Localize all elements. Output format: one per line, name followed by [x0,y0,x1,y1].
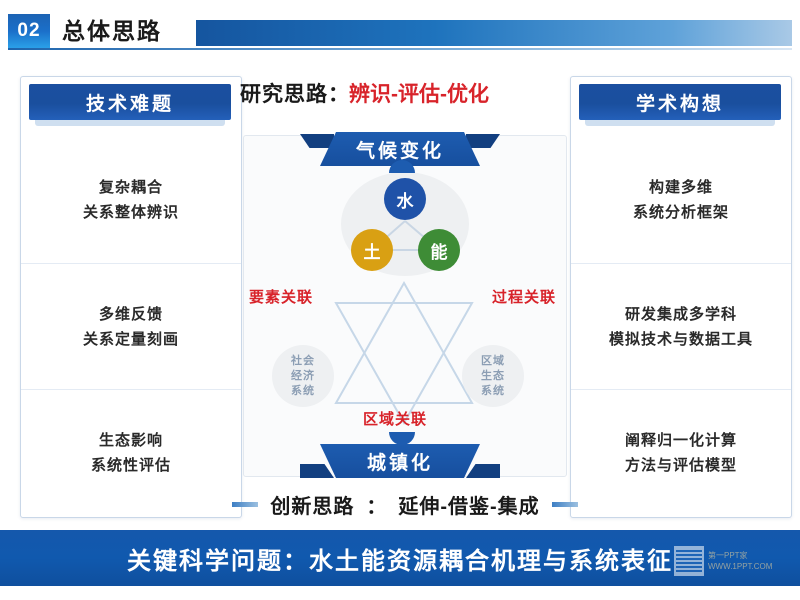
system-bubble-socioeconomic: 社会 经济 系统 [272,345,334,407]
list-item-line-1: 阐释归一化计算 [625,428,737,453]
list-item-line-1: 构建多维 [649,175,713,200]
slide-header: 02 总体思路 [0,14,800,50]
left-panel-header-shadow [35,120,225,126]
innovation-colon: ： [366,490,386,519]
innovation-steps: 延伸-借鉴-集成 [398,490,539,519]
right-panel-header: 学术构想 [579,84,781,120]
list-item[interactable]: 复杂耦合 关系整体辨识 [21,137,241,263]
association-label-element: 要素关联 [249,286,313,307]
innovation-label: 创新思路 [270,490,354,519]
association-label-region: 区域关联 [363,408,427,429]
list-item-line-1: 多维反馈 [99,302,163,327]
left-panel-header: 技术难题 [29,84,231,120]
list-item-line-2: 模拟技术与数据工具 [609,327,753,352]
qr-code-icon [674,546,704,576]
header-decorative-bar [196,20,792,46]
list-item-line-1: 生态影响 [99,428,163,453]
system-line-3: 系统 [481,384,505,399]
technical-challenges-panel: 技术难题 复杂耦合 关系整体辨识 多维反馈 关系定量刻画 生态影响 系统性评估 [20,76,242,518]
list-item[interactable]: 多维反馈 关系定量刻画 [21,263,241,389]
innovation-approach-row: 创新思路 ： 延伸-借鉴-集成 [200,488,610,520]
list-item-line-1: 复杂耦合 [99,175,163,200]
system-line-2: 经济 [291,369,315,384]
list-item-line-2: 方法与评估模型 [625,453,737,478]
association-label-process: 过程关联 [492,286,556,307]
dash-right-icon [552,502,578,507]
system-line-2: 生态 [481,369,505,384]
watermark-text: 第一PPT家 WWW.1PPT.COM [708,550,772,572]
list-item-line-2: 系统分析框架 [633,200,729,225]
header-underline [8,48,792,50]
list-item[interactable]: 研发集成多学科 模拟技术与数据工具 [571,263,791,389]
right-panel-header-shadow [585,120,775,126]
system-line-3: 系统 [291,384,315,399]
right-panel-items: 构建多维 系统分析框架 研发集成多学科 模拟技术与数据工具 阐释归一化计算 方法… [571,137,791,515]
key-question-text: 关键科学问题：水土能资源耦合机理与系统表征 [127,541,673,576]
list-item-line-2: 系统性评估 [91,453,171,478]
page-title: 总体思路 [62,15,162,48]
list-item-line-2: 关系整体辨识 [83,200,179,225]
section-number-badge: 02 [8,14,50,48]
resource-circle-energy[interactable]: 能 [418,229,460,271]
research-approach-label: 研究思路 [240,78,328,108]
watermark-line-1: 第一PPT家 [708,550,772,561]
dash-left-icon [232,502,258,507]
system-bubble-regional-ecology: 区域 生态 系统 [462,345,524,407]
list-item-line-2: 关系定量刻画 [83,327,179,352]
watermark-line-2: WWW.1PPT.COM [708,561,772,572]
system-line-1: 社会 [291,354,315,369]
list-item[interactable]: 构建多维 系统分析框架 [571,137,791,263]
resource-circle-water[interactable]: 水 [384,178,426,220]
left-panel-items: 复杂耦合 关系整体辨识 多维反馈 关系定量刻画 生态影响 系统性评估 [21,137,241,515]
list-item-line-1: 研发集成多学科 [625,302,737,327]
watermark: 第一PPT家 WWW.1PPT.COM [674,540,794,582]
resource-circle-land[interactable]: 土 [351,229,393,271]
research-approach-heading: 研究思路 ： 辨识-评估-优化 [240,78,560,108]
research-approach-steps: 辨识-评估-优化 [349,78,489,108]
system-line-1: 区域 [481,354,505,369]
footer-bottom-strip [0,586,800,600]
academic-conception-panel: 学术构想 构建多维 系统分析框架 研发集成多学科 模拟技术与数据工具 阐释归一化… [570,76,792,518]
research-approach-colon: ： [328,78,349,108]
ribbon-urbanization: 城镇化 [320,444,480,478]
